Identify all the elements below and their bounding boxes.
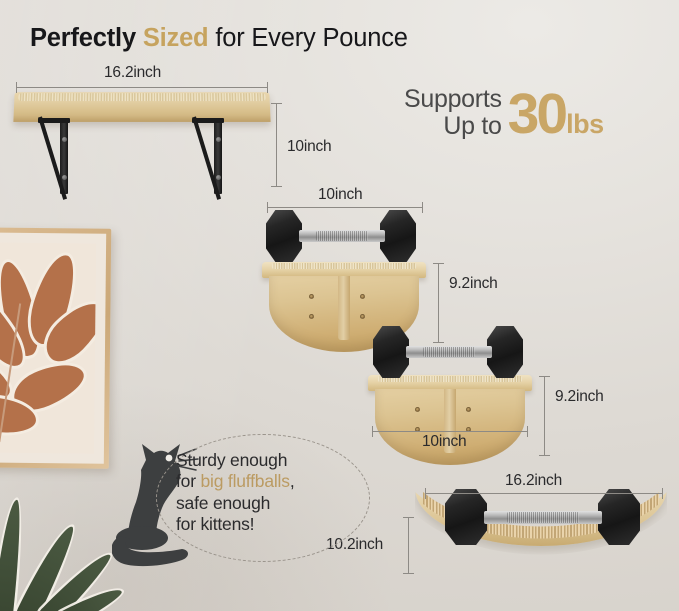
framed-wall-art [0,227,111,469]
dumbbell-weight-left [373,326,409,378]
dimension-label-shelf3-height: 9.2inch [555,388,604,406]
product-infographic-scene: Perfectly Sized for Every Pounce Support… [0,0,679,611]
bubble-line-2-prefix: for [176,471,201,491]
supports-label: Supports Up to [404,86,502,142]
supports-callout: Supports Up to 30 lbs [404,86,604,142]
dumbbell-weight-right [487,326,523,378]
dimension-label-shelf2-width: 10inch [318,186,362,204]
bracket-foot [192,118,224,123]
shelf-center-support [338,276,350,340]
supports-number-value: 30 [508,88,565,140]
speech-bubble-text: Sturdy enough for big fluffballs, safe e… [176,450,356,535]
bracket-screw-icon [62,175,67,180]
dimension-label-shelf2-height: 9.2inch [449,275,498,293]
bracket-screw-icon [62,137,67,142]
dumbbell-knurled-grip [316,231,368,241]
bracket-screw-icon [216,137,221,142]
bubble-line-2-suffix: , [290,471,295,491]
dumbbell-knurled-grip [423,347,475,357]
dumbbell-weight-right [380,210,416,262]
shelf-sisal-surface [18,93,266,101]
plant-blade [0,499,25,611]
bubble-line-4: for kittens! [176,514,356,535]
title-part-bold: Perfectly [30,24,136,52]
title-part-regular: for Every Pounce [215,24,407,52]
shelf-screw-icon [415,407,420,412]
dumbbell-knurled-grip [507,512,579,523]
dumbbell-upper [266,210,416,264]
dumbbell-lower [373,326,523,380]
bubble-line-1: Sturdy enough [176,450,356,471]
shelf-screw-icon [309,314,314,319]
supports-weight-unit: lbs [566,112,604,137]
shelf-flat-top [14,92,270,196]
page-title: Perfectly Sized for Every Pounce [30,24,408,53]
shelf-screw-icon [466,407,471,412]
supports-weight-number: 30 lbs [508,88,604,140]
dimension-line-shelf3-height [538,376,550,456]
bubble-line-3: safe enough [176,493,356,514]
art-canvas [0,242,96,453]
dumbbell-weight-left [266,210,302,262]
supports-line-2: Up to [404,113,502,140]
dimension-line-shelf1-height [270,103,282,187]
dimension-line-shelf4-height [402,517,414,574]
supports-line-1: Supports [404,86,502,113]
dimension-line-shelf1-width [16,81,268,93]
dimension-label-shelf1-width: 16.2inch [104,64,161,82]
shelf-screw-icon [360,314,365,319]
shelf-half-round-lower [368,375,532,467]
shelf-screw-icon [360,294,365,299]
bubble-line-2-highlight: big fluffballs [201,471,290,491]
dimension-label-shelf1-height: 10inch [287,138,331,156]
bracket-screw-icon [216,175,221,180]
title-part-gold: Sized [143,24,209,52]
dimension-label-shelf3-width: 10inch [422,433,466,451]
shelf-screw-icon [309,294,314,299]
bracket-foot [38,118,70,123]
art-mat [0,232,106,463]
bubble-line-2: for big fluffballs, [176,471,356,492]
dimension-label-shelf4-width: 16.2inch [505,472,562,490]
